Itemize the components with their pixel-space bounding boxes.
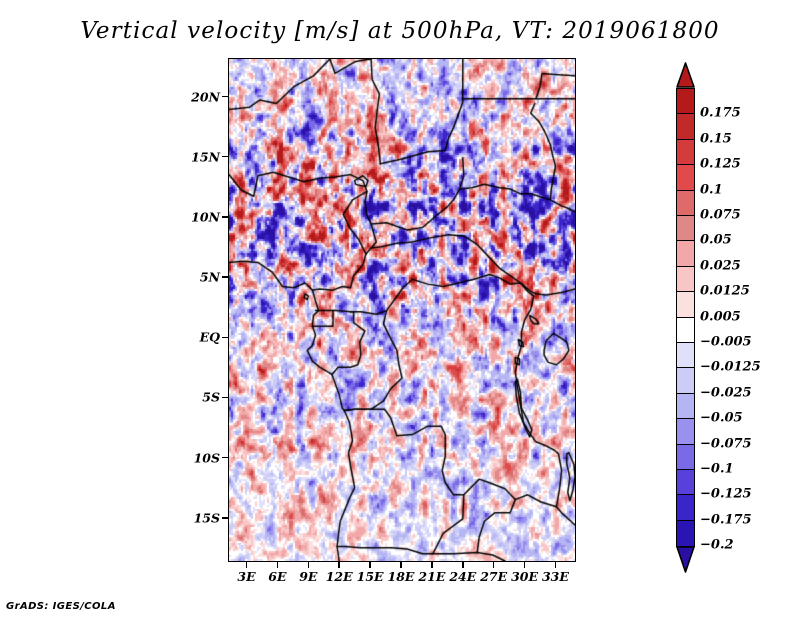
colorbar-swatch-6: [676, 240, 695, 267]
colorbar-label-13: −0.075: [700, 436, 752, 451]
colorbar-swatch-0: [676, 88, 695, 115]
colorbar-label-8: 0.005: [700, 309, 741, 324]
colorbar-swatch-10: [676, 342, 695, 369]
colorbar-label-14: −0.1: [700, 462, 734, 477]
colorbar-label-12: −0.05: [700, 411, 743, 426]
x-tick-label-30e: 30E: [511, 569, 538, 584]
y-tick-mark: [222, 156, 228, 158]
y-tick-label-15s: 15S: [186, 510, 220, 525]
x-tick-label-33e: 33E: [542, 569, 569, 584]
colorbar-swatch-13: [676, 418, 695, 445]
colorbar-swatch-4: [676, 190, 695, 217]
y-tick-mark: [222, 216, 228, 218]
y-tick-label-20n: 20N: [186, 89, 220, 104]
x-tick-mark: [246, 562, 248, 568]
colorbar-label-6: 0.025: [700, 258, 741, 273]
y-tick-mark: [222, 517, 228, 519]
map-borders-overlay: [229, 59, 575, 561]
grads-plot-page: Vertical velocity [m/s] at 500hPa, VT: 2…: [0, 0, 800, 618]
colorbar-swatch-2: [676, 139, 695, 166]
colorbar-label-2: 0.125: [700, 157, 741, 172]
colorbar-min-arrow: [676, 545, 695, 573]
y-tick-mark: [222, 337, 228, 339]
colorbar-label-0: 0.175: [700, 106, 741, 121]
x-tick-label-6e: 6E: [268, 569, 286, 584]
colorbar-label-9: −0.005: [700, 335, 752, 350]
colorbar-swatch-5: [676, 215, 695, 242]
x-tick-mark: [308, 562, 310, 568]
colorbar-label-4: 0.075: [700, 208, 741, 223]
colorbar-swatch-17: [676, 520, 695, 547]
x-tick-mark: [493, 562, 495, 568]
colorbar-swatch-8: [676, 291, 695, 318]
x-tick-label-9e: 9E: [299, 569, 317, 584]
y-tick-label-eq: EQ: [186, 330, 220, 345]
colorbar-label-3: 0.1: [700, 182, 723, 197]
x-tick-mark: [431, 562, 433, 568]
y-tick-label-5s: 5S: [186, 390, 220, 405]
x-tick-label-24e: 24E: [449, 569, 476, 584]
colorbar-swatch-14: [676, 444, 695, 471]
y-tick-label-10n: 10N: [186, 209, 220, 224]
x-tick-mark: [369, 562, 371, 568]
colorbar-swatch-1: [676, 113, 695, 140]
colorbar-max-arrow: [676, 62, 695, 88]
y-tick-label-15n: 15N: [186, 149, 220, 164]
y-tick-label-10s: 10S: [186, 450, 220, 465]
y-tick-mark: [222, 276, 228, 278]
colorbar-swatch-3: [676, 164, 695, 191]
colorbar-label-10: −0.0125: [700, 360, 761, 375]
colorbar-label-1: 0.15: [700, 131, 732, 146]
colorbar: 0.1750.150.1250.10.0750.050.0250.01250.0…: [676, 62, 696, 550]
colorbar-swatch-9: [676, 317, 695, 344]
colorbar-label-17: −0.2: [700, 538, 734, 553]
x-tick-label-12e: 12E: [326, 569, 353, 584]
x-tick-mark: [277, 562, 279, 568]
x-tick-label-21e: 21E: [418, 569, 445, 584]
page-title: Vertical velocity [m/s] at 500hPa, VT: 2…: [0, 18, 800, 44]
x-tick-mark: [400, 562, 402, 568]
x-tick-mark: [462, 562, 464, 568]
footer-credit: GrADS: IGES/COLA: [6, 601, 116, 612]
colorbar-label-15: −0.125: [700, 487, 752, 502]
x-tick-label-18e: 18E: [388, 569, 415, 584]
x-tick-label-15e: 15E: [357, 569, 384, 584]
colorbar-label-5: 0.05: [700, 233, 732, 248]
x-tick-mark: [524, 562, 526, 568]
y-tick-label-5n: 5N: [186, 270, 220, 285]
y-tick-mark: [222, 397, 228, 399]
y-tick-mark: [222, 96, 228, 98]
x-tick-mark: [338, 562, 340, 568]
colorbar-swatch-11: [676, 367, 695, 394]
colorbar-swatch-12: [676, 393, 695, 420]
colorbar-swatch-16: [676, 494, 695, 521]
x-tick-mark: [555, 562, 557, 568]
x-tick-label-3e: 3E: [237, 569, 255, 584]
map-plot-area: [228, 58, 576, 562]
x-tick-label-27e: 27E: [480, 569, 507, 584]
colorbar-swatch-15: [676, 469, 695, 496]
colorbar-label-11: −0.025: [700, 385, 752, 400]
colorbar-label-16: −0.175: [700, 512, 752, 527]
colorbar-label-7: 0.0125: [700, 284, 750, 299]
y-tick-mark: [222, 457, 228, 459]
colorbar-swatch-7: [676, 266, 695, 293]
